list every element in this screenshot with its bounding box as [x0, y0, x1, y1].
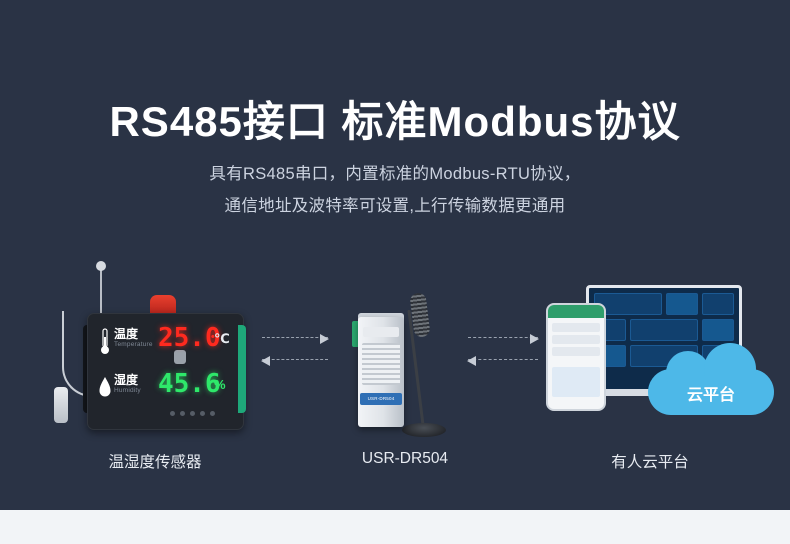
arrow-line-reverse [262, 359, 328, 360]
phone-list-row [552, 347, 600, 356]
arrow-head-right-icon-2 [530, 334, 539, 344]
water-drop-icon [98, 373, 112, 403]
sensor-antenna-rod [100, 265, 102, 317]
humidity-value: 45.6 [158, 369, 221, 399]
poster-root: RS485接口 标准Modbus协议 具有RS485串口，内置标准的Modbus… [0, 0, 790, 544]
subtitle-line-1: 具有RS485串口，内置标准的Modbus-RTU协议， [0, 160, 790, 184]
arrow-line-forward-2 [468, 337, 538, 338]
cloud-platform-group: 云平台 [540, 263, 755, 443]
gateway-led-strip [363, 327, 399, 337]
bottom-band [0, 510, 790, 544]
arrow-line-forward [262, 337, 328, 338]
temperature-sublabel: Temperature [114, 341, 153, 348]
humidity-label: 湿度 [114, 371, 138, 388]
humidity-unit: % [214, 377, 226, 392]
caption-cloud: 有人云平台 [565, 450, 735, 472]
arrow-head-left-icon-2 [467, 356, 476, 366]
thermometer-icon [98, 327, 112, 357]
sensor-antenna-tip-icon [96, 261, 106, 271]
arrow-head-right-icon [320, 334, 329, 344]
caption-gateway: USR-DR504 [300, 450, 510, 468]
dashboard-card [702, 319, 734, 341]
dashboard-card [666, 293, 698, 315]
phone-chart [552, 367, 600, 397]
caption-sensor: 温湿度传感器 [60, 450, 250, 472]
arrow-head-left-icon [261, 356, 270, 366]
cloud-badge: 云平台 [648, 355, 774, 417]
sensor-right-edge [238, 325, 246, 413]
gateway-model-label: USR-DR504 [360, 393, 402, 405]
temperature-label: 温度 [114, 325, 138, 342]
dashboard-card [630, 319, 698, 341]
phone-app [546, 303, 606, 411]
sensor-status-leds [170, 409, 222, 417]
phone-app-header [548, 305, 604, 318]
temperature-unit: ℃ [214, 331, 230, 347]
subtitle-line-2: 通信地址及波特率可设置,上行传输数据更通用 [0, 192, 790, 216]
phone-list-row [552, 335, 600, 344]
temperature-humidity-sensor: 温度 Temperature 25.0 ℃ 湿度 Humidity 45.6 % [42, 265, 257, 440]
gateway-vent-grille [362, 343, 400, 385]
page-title: RS485接口 标准Modbus协议 [0, 88, 790, 149]
phone-list-row [552, 323, 600, 332]
antenna-magnetic-base [402, 423, 446, 437]
link-gateway-to-cloud [468, 333, 538, 363]
usr-dr504-device: USR-DR504 [330, 275, 480, 445]
external-probe-icon [54, 387, 68, 423]
link-sensor-to-gateway [262, 333, 328, 363]
dashboard-card [702, 293, 734, 315]
arrow-line-reverse-2 [468, 359, 538, 360]
diagram-stage: 温度 Temperature 25.0 ℃ 湿度 Humidity 45.6 % [0, 255, 790, 485]
temperature-value: 25.0 [158, 323, 221, 353]
humidity-reading: 湿度 Humidity 45.6 % [98, 369, 236, 409]
temperature-reading: 温度 Temperature 25.0 ℃ [98, 323, 236, 363]
humidity-sublabel: Humidity [114, 387, 141, 394]
cloud-label: 云平台 [648, 381, 774, 405]
